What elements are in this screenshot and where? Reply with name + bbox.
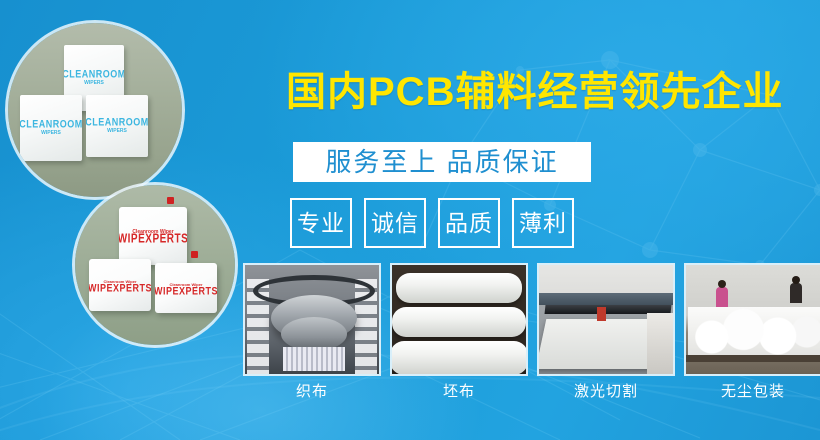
thumbnail-caption: 无尘包装 bbox=[721, 384, 785, 399]
product-pack: CLEANROOM WIPERS bbox=[86, 95, 148, 157]
thumbnail-frame bbox=[390, 263, 528, 376]
product-pack-label: CLEANROOM bbox=[86, 117, 148, 128]
banner-subtitle: 服务至上 品质保证 bbox=[325, 149, 558, 175]
feature-tag-label: 品质 bbox=[445, 212, 493, 235]
thumbnail-caption: 坯布 bbox=[443, 384, 475, 399]
process-thumbnail-cleanroom-packing: 无尘包装 bbox=[684, 263, 820, 399]
promo-banner: CLEANROOM WIPERS CLEANROOM WIPERS CLEANR… bbox=[0, 0, 820, 440]
product-pack-sublabel: WIPERS bbox=[84, 81, 104, 86]
feature-tag-integrity: 诚信 bbox=[364, 198, 426, 248]
product-pack: CLEANROOM WIPERS bbox=[20, 95, 82, 161]
product-circle-cleanroom: CLEANROOM WIPERS CLEANROOM WIPERS CLEANR… bbox=[8, 23, 182, 197]
product-pack: Cleanroom Wiper WIPEXPERTS bbox=[119, 207, 187, 265]
thumbnail-frame bbox=[684, 263, 820, 376]
product-circle-wipexperts: Cleanroom Wiper WIPEXPERTS Cleanroom Wip… bbox=[75, 185, 235, 345]
feature-tag-list: 专业 诚信 品质 薄利 bbox=[290, 198, 574, 248]
feature-tag-label: 专业 bbox=[297, 212, 345, 235]
photo-packing-room bbox=[686, 265, 820, 374]
product-pack-label: WIPEXPERTS bbox=[119, 233, 187, 246]
thumbnail-frame bbox=[537, 263, 675, 376]
feature-tag-low-margin: 薄利 bbox=[512, 198, 574, 248]
thumbnail-frame bbox=[243, 263, 381, 376]
feature-tag-label: 薄利 bbox=[519, 212, 567, 235]
product-pack-label: WIPEXPERTS bbox=[155, 285, 217, 296]
product-pack: Cleanroom Wiper WIPEXPERTS bbox=[89, 259, 151, 311]
feature-tag-quality: 品质 bbox=[438, 198, 500, 248]
product-pack-label: WIPEXPERTS bbox=[89, 282, 151, 293]
photo-laser-cutter bbox=[539, 265, 673, 374]
red-stamp-icon bbox=[167, 197, 174, 204]
thumbnail-caption: 激光切割 bbox=[574, 384, 638, 399]
process-thumbnail-strip: 织布 坯布 激光切割 bbox=[243, 263, 820, 399]
feature-tag-label: 诚信 bbox=[371, 212, 419, 235]
feature-tag-professional: 专业 bbox=[290, 198, 352, 248]
photo-knitting-machine bbox=[245, 265, 379, 374]
process-thumbnail-weaving: 织布 bbox=[243, 263, 381, 399]
product-pack-sublabel: WIPERS bbox=[41, 131, 61, 136]
photo-fabric-rolls bbox=[392, 265, 526, 374]
photo-cleanroom-cartons: CLEANROOM WIPERS CLEANROOM WIPERS CLEANR… bbox=[8, 23, 182, 197]
product-pack: Cleanroom Wiper WIPEXPERTS bbox=[155, 263, 217, 313]
thumbnail-caption: 织布 bbox=[296, 384, 328, 399]
banner-headline: 国内PCB辅料经营领先企业 bbox=[286, 72, 783, 112]
process-thumbnail-greige-fabric: 坯布 bbox=[390, 263, 528, 399]
process-thumbnail-laser-cutting: 激光切割 bbox=[537, 263, 675, 399]
banner-subtitle-bar: 服务至上 品质保证 bbox=[293, 142, 591, 182]
product-pack-label: CLEANROOM bbox=[64, 69, 124, 80]
product-pack-sublabel: WIPERS bbox=[107, 129, 127, 134]
photo-wipexperts-bales: Cleanroom Wiper WIPEXPERTS Cleanroom Wip… bbox=[75, 185, 235, 345]
red-stamp-icon bbox=[191, 251, 198, 258]
product-pack-label: CLEANROOM bbox=[20, 119, 82, 130]
